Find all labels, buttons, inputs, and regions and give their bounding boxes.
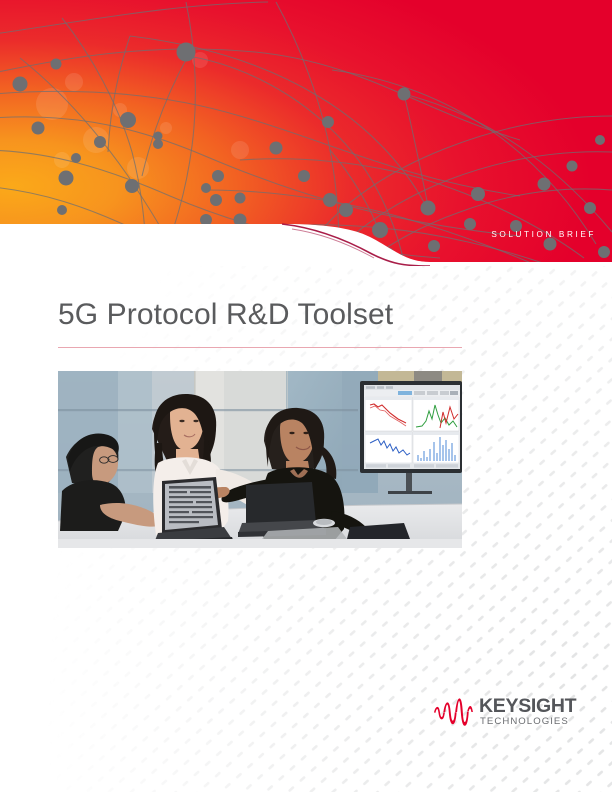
page-title: 5G Protocol R&D Toolset [58,296,393,334]
document-page: SOLUTION BRIEF 5G Protocol R&D Toolset [0,0,612,792]
title-divider [58,347,462,348]
hero-image-illustration [58,371,462,548]
brand-name: KEYSIGHT [479,696,576,716]
keysight-logo: KEYSIGHT TECHNOLOGIES [433,692,573,732]
header-banner: SOLUTION BRIEF [0,0,612,266]
brand-tagline: TECHNOLOGIES [480,716,569,727]
hero-image [58,371,462,548]
header-network-graphic [0,0,612,266]
document-kind-label: SOLUTION BRIEF [491,230,596,239]
keysight-waveform-mark [433,696,474,726]
